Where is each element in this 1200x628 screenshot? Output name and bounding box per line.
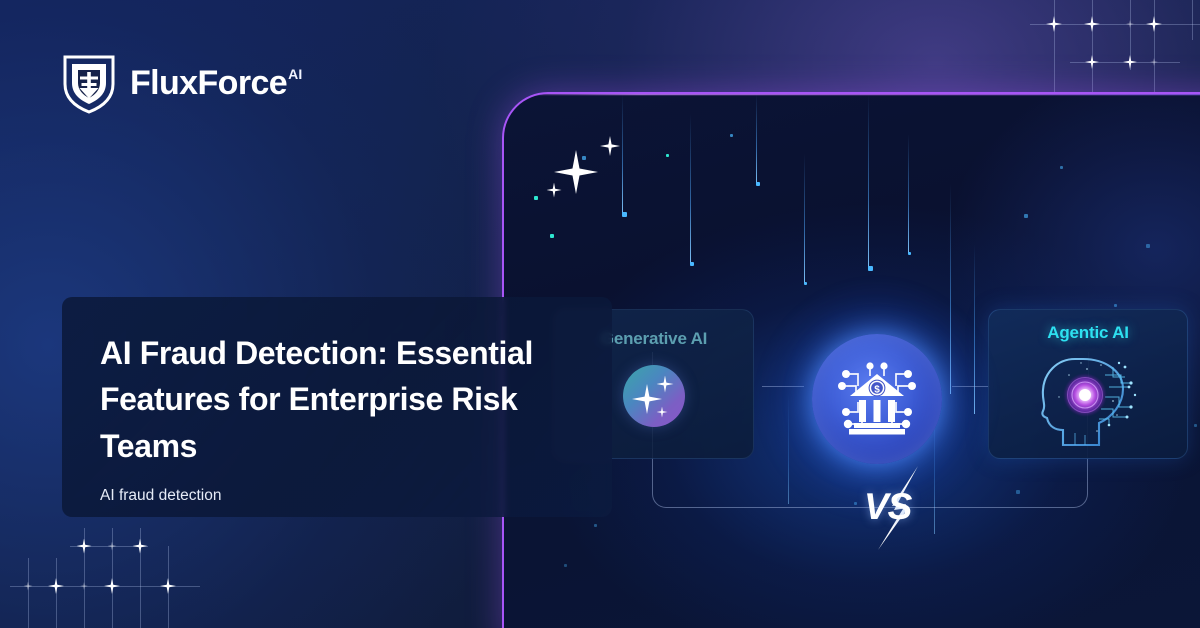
- generative-ai-label: Generative AI: [601, 329, 707, 349]
- bank-circuit-icon: $: [830, 352, 924, 446]
- versus-badge: VS: [856, 466, 944, 550]
- versus-label: VS: [864, 488, 911, 525]
- brand-superscript: AI: [288, 67, 302, 81]
- brand-name: FluxForceAI: [130, 66, 303, 100]
- hero-banner: Generative AI Agentic AI: [0, 0, 1200, 628]
- hero-text-card: AI Fraud Detection: Essential Features f…: [62, 297, 612, 517]
- bank-orb[interactable]: $: [802, 324, 952, 474]
- brand-text: FluxForce: [130, 66, 287, 100]
- four-point-star-icon: [542, 120, 652, 210]
- svg-text:$: $: [874, 384, 880, 395]
- page-subtitle: AI fraud detection: [100, 487, 574, 505]
- agentic-ai-card[interactable]: Agentic AI: [988, 309, 1188, 459]
- shield-double-cross-icon: [62, 52, 116, 114]
- sparkle-gradient-orb-icon: [623, 365, 685, 427]
- page-title: AI Fraud Detection: Essential Features f…: [100, 330, 574, 469]
- agentic-ai-label: Agentic AI: [1047, 323, 1128, 343]
- panel-top-glow: [504, 92, 1200, 95]
- node-grid-icon: [10, 528, 200, 628]
- brand-logo[interactable]: FluxForceAI: [62, 52, 303, 114]
- ai-head-profile-icon: [1013, 345, 1163, 449]
